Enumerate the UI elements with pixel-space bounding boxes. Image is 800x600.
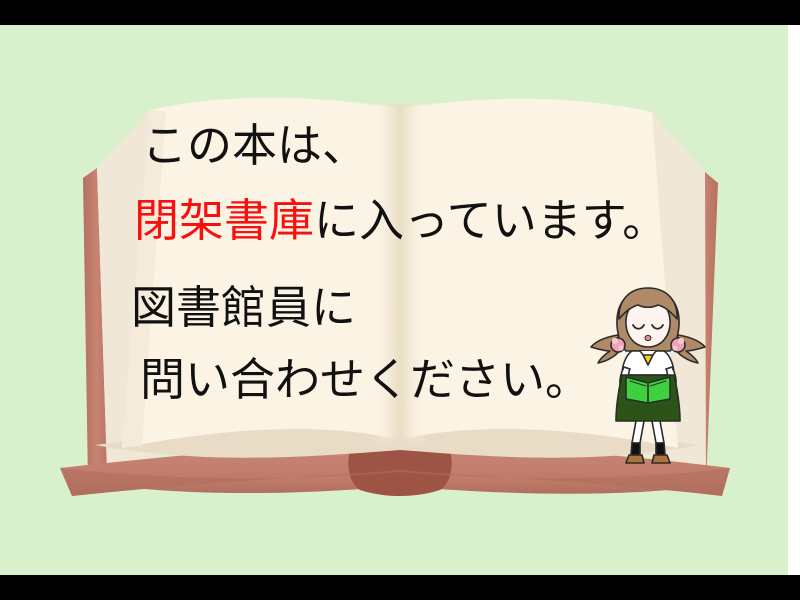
book-page-left [122,98,400,448]
girl-reading-icon [588,275,708,465]
slide-canvas: この本は、 閉架書庫に入っています。 図書館員に 問い合わせください。 [0,0,800,600]
letterbox-bar-bottom [0,575,800,600]
book-gutter-shadow [372,104,428,444]
letterbox-bar-top [0,0,800,25]
